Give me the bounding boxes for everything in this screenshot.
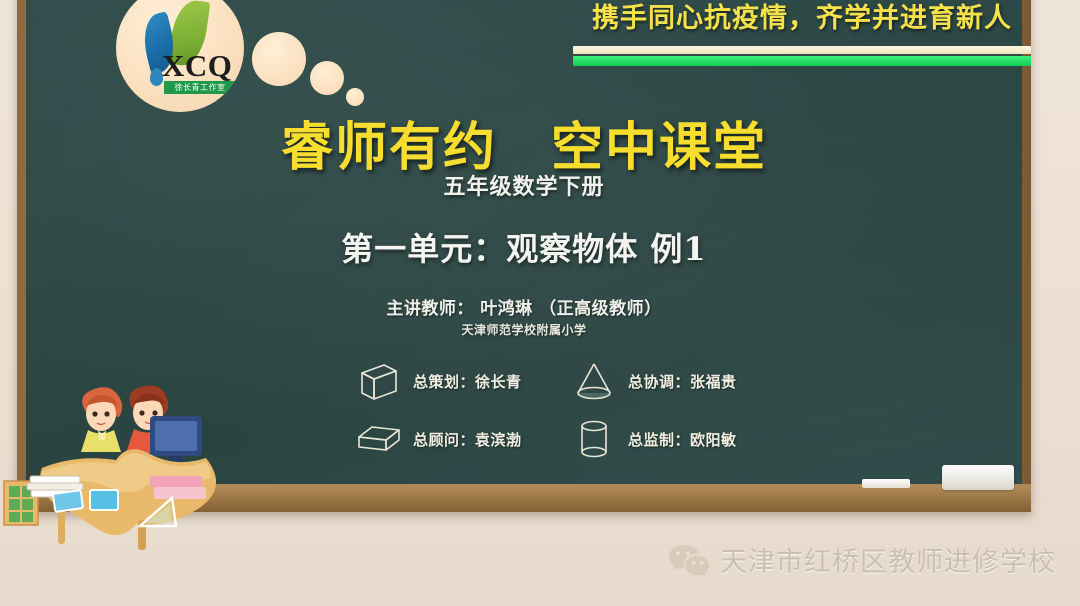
teacher-name: 主讲教师： 叶鸿琳 （正高级教师）: [26, 294, 1022, 319]
pink-books: [150, 476, 206, 499]
footer-account-name: 天津市红桥区教师进修学校: [720, 540, 1056, 579]
footer-watermark: 天津市红桥区教师进修学校: [668, 540, 1056, 579]
logo-wordmark: XCQ: [162, 50, 232, 81]
logo-studio-label: 徐长青工作室: [164, 81, 236, 94]
thought-bubble-small: [346, 88, 364, 106]
cylinder-icon: [571, 418, 617, 460]
banner-slogan: 携手同心抗疫情，齐学并进育新人: [573, 0, 1031, 35]
banner-divider-cream: [573, 46, 1031, 54]
credit-label: 总协调：张福贵: [628, 371, 737, 392]
thought-bubble-large: [252, 32, 306, 86]
credit-label: 总顾问：袁滨渤: [413, 429, 522, 450]
banner-divider-green: [573, 56, 1031, 66]
chalk-icon: [862, 479, 910, 488]
credit-item-coordinator: 总协调：张福贵: [571, 360, 786, 402]
cube-icon: [356, 360, 402, 402]
unit-title: 第一单元：观察物体 例1: [26, 224, 1022, 270]
banner: 携手同心抗疫情，齐学并进育新人: [573, 0, 1031, 66]
credit-item-advisor: 总顾问：袁滨渤: [356, 418, 571, 460]
students-illustration: [0, 368, 232, 550]
studio-logo: XCQ 徐长青工作室: [116, 0, 244, 112]
credits-list: 总策划：徐长青 总协调：张福贵: [356, 360, 786, 460]
credit-item-planner: 总策划：徐长青: [356, 360, 571, 402]
blue-tile: [90, 490, 118, 510]
credit-label: 总监制：欧阳敏: [628, 429, 737, 450]
student-girl: [81, 387, 122, 452]
cone-icon: [571, 360, 617, 402]
credit-label: 总策划：徐长青: [413, 371, 522, 392]
page-subtitle: 五年级数学下册: [26, 169, 1022, 201]
teacher-school: 天津师范学校附属小学: [26, 321, 1022, 338]
wechat-icon: [668, 543, 710, 577]
slide-canvas: XCQ 徐长青工作室 携手同心抗疫情，齐学并进育新人 睿师有约 空中课堂 五年级…: [0, 0, 1080, 606]
thought-bubble-medium: [310, 61, 344, 95]
cuboid-icon: [356, 418, 402, 460]
credit-item-producer: 总监制：欧阳敏: [571, 418, 786, 460]
eraser-icon: [942, 465, 1014, 490]
blue-tile: [53, 490, 83, 512]
